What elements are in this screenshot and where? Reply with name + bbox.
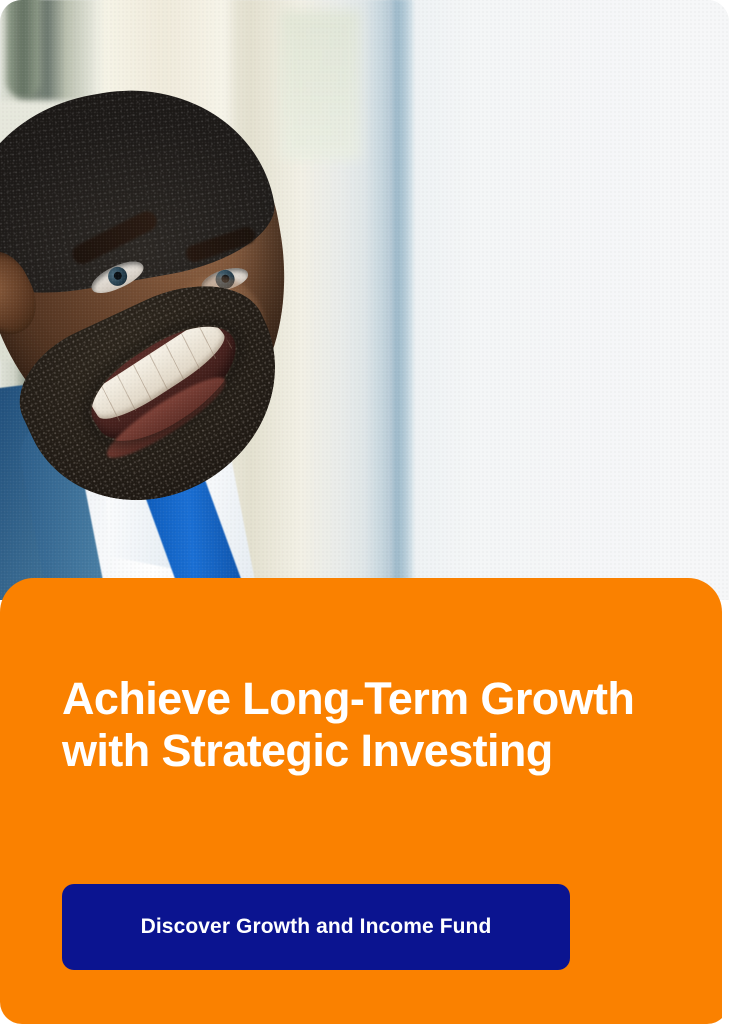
hero-photo: [0, 0, 729, 600]
promo-card: Achieve Long-Term Growth with Strategic …: [0, 0, 729, 1024]
pupil-left: [112, 271, 123, 282]
photo-background-window: [412, 0, 729, 600]
promo-headline: Achieve Long-Term Growth with Strategic …: [62, 673, 662, 777]
discover-fund-button[interactable]: Discover Growth and Income Fund: [62, 884, 570, 970]
promo-content-panel: Achieve Long-Term Growth with Strategic …: [0, 578, 722, 1024]
